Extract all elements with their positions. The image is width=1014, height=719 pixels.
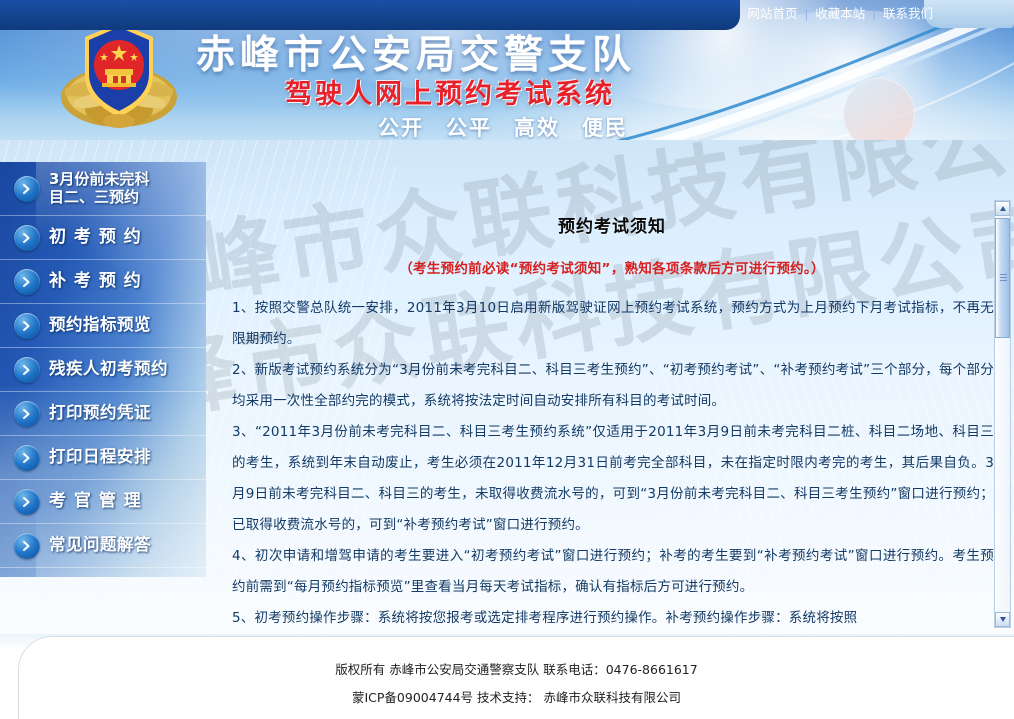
required-reading-notice: （考生预约前必读“预约考试须知”，熟知各项条款后方可进行预约。）: [210, 257, 1014, 277]
scrollbar-thumb[interactable]: [995, 218, 1010, 338]
notice-paragraph: 5、初考预约操作步骤：系统将按您报考或选定排考程序进行预约操作。补考预约操作步骤…: [232, 603, 994, 634]
sidebar-item-print-voucher[interactable]: 打印预约凭证: [0, 392, 206, 436]
chevron-up-icon: [1000, 206, 1006, 211]
page-title: 预约考试须知: [210, 212, 1014, 237]
sidebar-item-label: 打印预约凭证: [49, 404, 151, 423]
chevron-right-circle-icon: [14, 489, 40, 515]
police-badge-icon: [57, 17, 182, 132]
footer-copyright: 版权所有 赤峰市公安局交通警察支队 联系电话：0476-8661617: [19, 659, 1014, 678]
sidebar-item-label: 残疾人初考预约: [49, 360, 168, 379]
sidebar-item-examiner-management[interactable]: 考 官 管 理: [0, 480, 206, 524]
chevron-right-circle-icon: [14, 313, 40, 339]
slogan-word-1: 公开: [378, 116, 424, 140]
nav-link-bookmark[interactable]: 收藏本站: [808, 0, 872, 28]
scrollbar-grip-icon: [1000, 274, 1007, 282]
site-slogan: 公开公平高效便民: [378, 112, 628, 142]
sidebar-item-retake-booking[interactable]: 补 考 预 约: [0, 260, 206, 304]
sidebar-item-unfinished-subject23-booking[interactable]: 3月份前未完科 目二、三预约: [0, 162, 206, 216]
notice-paragraph: 1、按照交警总队统一安排，2011年3月10日启用新版驾驶证网上预约考试系统，预…: [232, 293, 994, 355]
sidebar-item-print-schedule[interactable]: 打印日程安排: [0, 436, 206, 480]
chevron-right-circle-icon: [14, 269, 40, 295]
scroll-up-button[interactable]: [995, 201, 1010, 216]
footer-icp-support: 蒙ICP备09004744号 技术支持： 赤峰市众联科技有限公司: [19, 687, 1014, 706]
sidebar: 3月份前未完科 目二、三预约 初 考 预 约 补 考 预 约 预约指标预览: [0, 162, 206, 577]
sidebar-item-first-exam-booking[interactable]: 初 考 预 约: [0, 216, 206, 260]
notice-paragraph: 4、初次申请和增驾申请的考生要进入“初考预约考试”窗口进行预约；补考的考生要到“…: [232, 541, 994, 603]
sidebar-item-label: 预约指标预览: [49, 316, 151, 335]
topbar-background: [0, 0, 740, 30]
notice-paragraph: 2、新版考试预约系统分为“3月份前未考完科目二、科目三考生预约”、“初考预约考试…: [232, 355, 994, 417]
top-navigation[interactable]: 网站首页 | 收藏本站 | 联系我们: [700, 0, 940, 28]
chevron-right-circle-icon: [14, 225, 40, 251]
content-panel: 预约考试须知 （考生预约前必读“预约考试须知”，熟知各项条款后方可进行预约。） …: [210, 196, 1014, 636]
sidebar-menu: 3月份前未完科 目二、三预约 初 考 预 约 补 考 预 约 预约指标预览: [0, 162, 206, 568]
sidebar-item-label: 初 考 预 约: [49, 228, 142, 248]
nav-link-contact[interactable]: 联系我们: [876, 0, 940, 28]
slogan-word-4: 便民: [582, 116, 628, 140]
notice-paragraph: 3、“2011年3月份前未考完科目二、科目三考生预约系统”仅适用于2011年3月…: [232, 417, 994, 541]
sidebar-item-label: 3月份前未完科 目二、三预约: [49, 171, 149, 206]
chevron-down-icon: [1000, 617, 1006, 622]
chevron-right-circle-icon: [14, 401, 40, 427]
site-footer: 版权所有 赤峰市公安局交通警察支队 联系电话：0476-8661617 蒙ICP…: [0, 634, 1014, 719]
chevron-right-circle-icon: [14, 445, 40, 471]
sidebar-item-faq[interactable]: 常见问题解答: [0, 524, 206, 568]
footer-panel: 版权所有 赤峰市公安局交通警察支队 联系电话：0476-8661617 蒙ICP…: [18, 636, 1014, 719]
site-subtitle: 驾驶人网上预约考试系统: [285, 72, 615, 111]
sidebar-item-label: 常见问题解答: [49, 536, 151, 555]
scroll-down-button[interactable]: [995, 612, 1010, 627]
content-scrollbar[interactable]: [994, 200, 1011, 628]
chevron-right-circle-icon: [14, 176, 40, 202]
sidebar-item-disabled-first-exam-booking[interactable]: 残疾人初考预约: [0, 348, 206, 392]
nav-link-home[interactable]: 网站首页: [741, 0, 805, 28]
sidebar-item-label: 打印日程安排: [49, 448, 151, 467]
notice-paragraph-list: 1、按照交警总队统一安排，2011年3月10日启用新版驾驶证网上预约考试系统，预…: [210, 293, 1014, 634]
chevron-right-circle-icon: [14, 357, 40, 383]
sidebar-item-label: 考 官 管 理: [49, 492, 142, 512]
chevron-right-circle-icon: [14, 533, 40, 559]
slogan-word-2: 公平: [446, 116, 492, 140]
slogan-word-3: 高效: [514, 116, 560, 140]
sidebar-item-quota-preview[interactable]: 预约指标预览: [0, 304, 206, 348]
sidebar-item-label: 补 考 预 约: [49, 272, 142, 292]
page-root: 赤峰市公安局交警支队 驾驶人网上预约考试系统 公开公平高效便民 网站首页 | 收…: [0, 0, 1014, 719]
